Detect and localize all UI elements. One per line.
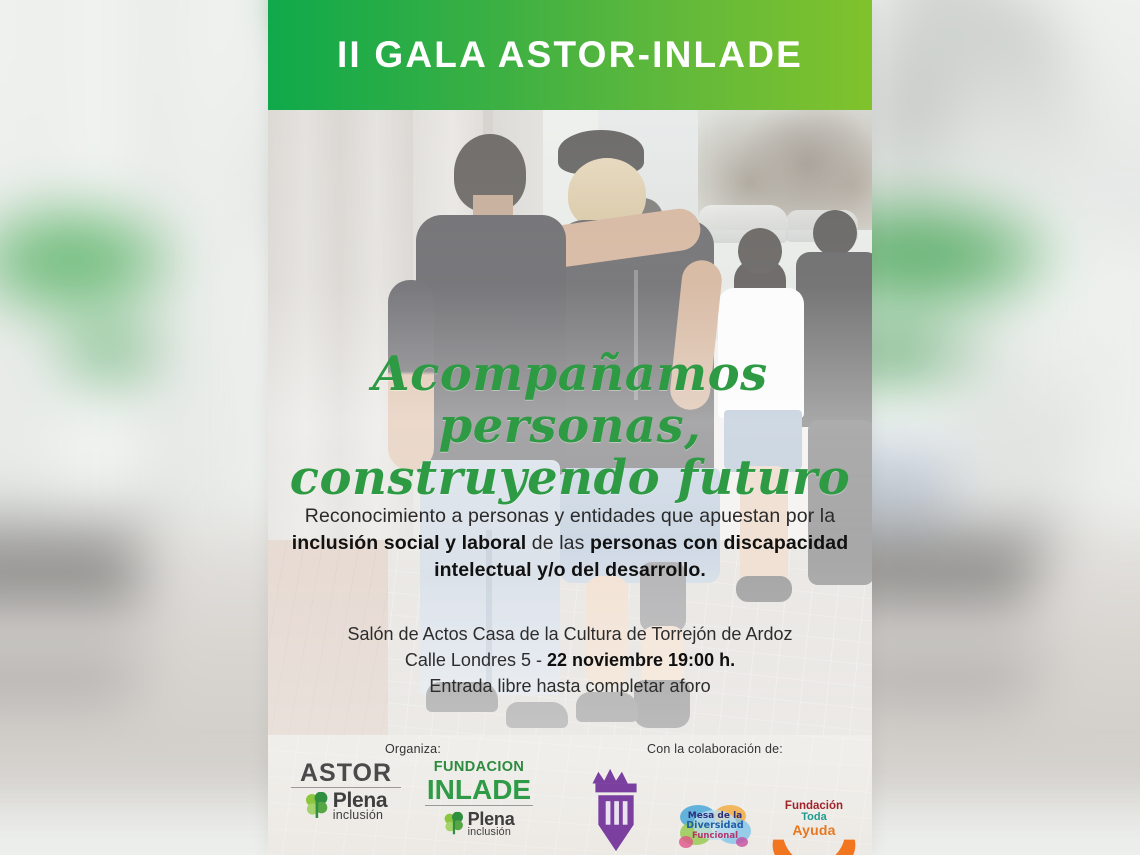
inlade-divider (425, 805, 533, 806)
clover-icon (305, 792, 330, 819)
logo-mesa-diversidad-funcional: Mesa de la Diversidad Funcional (672, 801, 758, 853)
plena-text-astor: Plena inclusión (333, 790, 388, 822)
inlade-fundacion-word: FUNDACION (419, 760, 539, 775)
plena-text-inlade: Plena inclusión (468, 810, 515, 837)
event-address-line: Calle Londres 5 - 22 noviembre 19:00 h. (282, 647, 858, 673)
plena-inclusion-lockup-inlade: Plena inclusión (427, 810, 530, 837)
event-address: Calle Londres 5 - (405, 650, 547, 670)
mesa-line-3: Funcional (692, 831, 738, 841)
event-venue: Salón de Actos Casa de la Cultura de Tor… (282, 621, 858, 647)
slogan-line-2: construyendo futuro (268, 452, 872, 504)
slogan-line-1: Acompañamos personas, (372, 346, 767, 454)
inclusion-word: inclusión (468, 827, 515, 838)
logo-astor: ASTOR (287, 760, 405, 822)
screenshot-stage: II GALA ASTOR-INLADE (0, 0, 1140, 855)
clover-icon (444, 812, 466, 835)
poster-logo-zone: Organiza: ASTOR (268, 742, 872, 855)
poster-event-details: Salón de Actos Casa de la Cultura de Tor… (282, 621, 858, 699)
organiza-caption: Organiza: (268, 742, 558, 756)
poster: II GALA ASTOR-INLADE (268, 0, 872, 855)
logo-inlade: FUNDACION INLADE (419, 760, 539, 840)
poster-description: Reconocimiento a personas y entidades qu… (282, 503, 858, 584)
astor-divider (291, 787, 401, 788)
event-datetime: 22 noviembre 19:00 h. (547, 650, 735, 670)
astor-wordmark: ASTOR (287, 760, 405, 786)
description-text-1: Reconocimiento a personas y entidades qu… (305, 505, 835, 527)
coat-of-arms-icon (566, 847, 666, 855)
logo-torrejon-de-ardoz: Torrejón de Ardoz A Y U N T A M I E N T … (566, 760, 666, 855)
poster-header-bar: II GALA ASTOR-INLADE (268, 0, 872, 110)
collaborators-block: Con la colaboración de: (558, 742, 872, 855)
inclusion-word: inclusión (333, 809, 388, 822)
event-entry-note: Entrada libre hasta completar aforo (282, 673, 858, 699)
organizers-block: Organiza: ASTOR (268, 742, 558, 855)
colaboracion-caption: Con la colaboración de: (558, 742, 872, 756)
poster-slogan: Acompañamos personas, construyendo futur… (268, 348, 872, 504)
logo-fundacion-toda-ayuda: Fundación Toda Ayuda (768, 800, 860, 854)
mesa-line-2: Diversidad (686, 820, 743, 831)
description-bold-1: inclusión social y laboral (292, 532, 527, 554)
poster-title: II GALA ASTOR-INLADE (337, 34, 803, 76)
plena-inclusion-lockup-astor: Plena inclusión (287, 790, 405, 822)
description-text-2: de las (526, 532, 590, 554)
inlade-wordmark: INLADE (419, 775, 539, 804)
toda-line-3: Ayuda (768, 823, 860, 837)
